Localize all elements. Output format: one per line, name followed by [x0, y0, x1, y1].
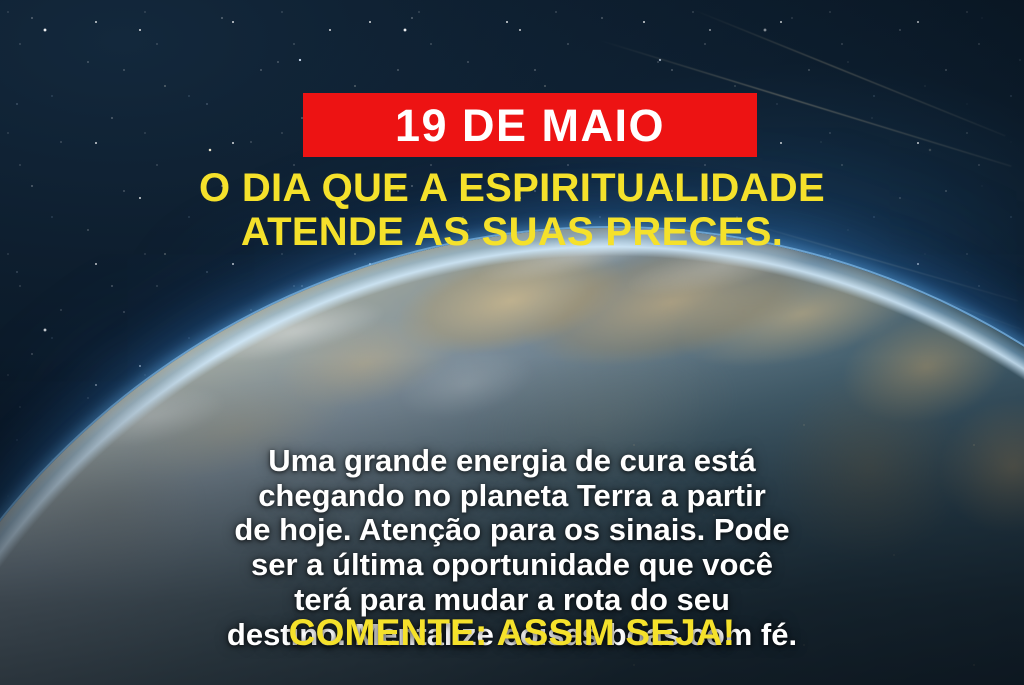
call-to-action: COMENTE: ASSIM SEJA!	[0, 612, 1024, 654]
body-line-1: Uma grande energia de cura está	[0, 444, 1024, 479]
body-line-2: chegando no planeta Terra a partir	[0, 479, 1024, 514]
body-line-3: de hoje. Atenção para os sinais. Pode	[0, 513, 1024, 548]
headline-line-1: O DIA QUE A ESPIRITUALIDADE	[0, 166, 1024, 210]
headline: O DIA QUE A ESPIRITUALIDADE ATENDE AS SU…	[0, 166, 1024, 254]
date-banner: 19 DE MAIO	[303, 93, 757, 157]
headline-line-2: ATENDE AS SUAS PRECES.	[0, 210, 1024, 254]
date-banner-label: 19 DE MAIO	[395, 103, 665, 148]
body-line-4: ser a última oportunidade que você	[0, 548, 1024, 583]
poster-content: 19 DE MAIO O DIA QUE A ESPIRITUALIDADE A…	[0, 0, 1024, 685]
poster-image: 19 DE MAIO O DIA QUE A ESPIRITUALIDADE A…	[0, 0, 1024, 685]
